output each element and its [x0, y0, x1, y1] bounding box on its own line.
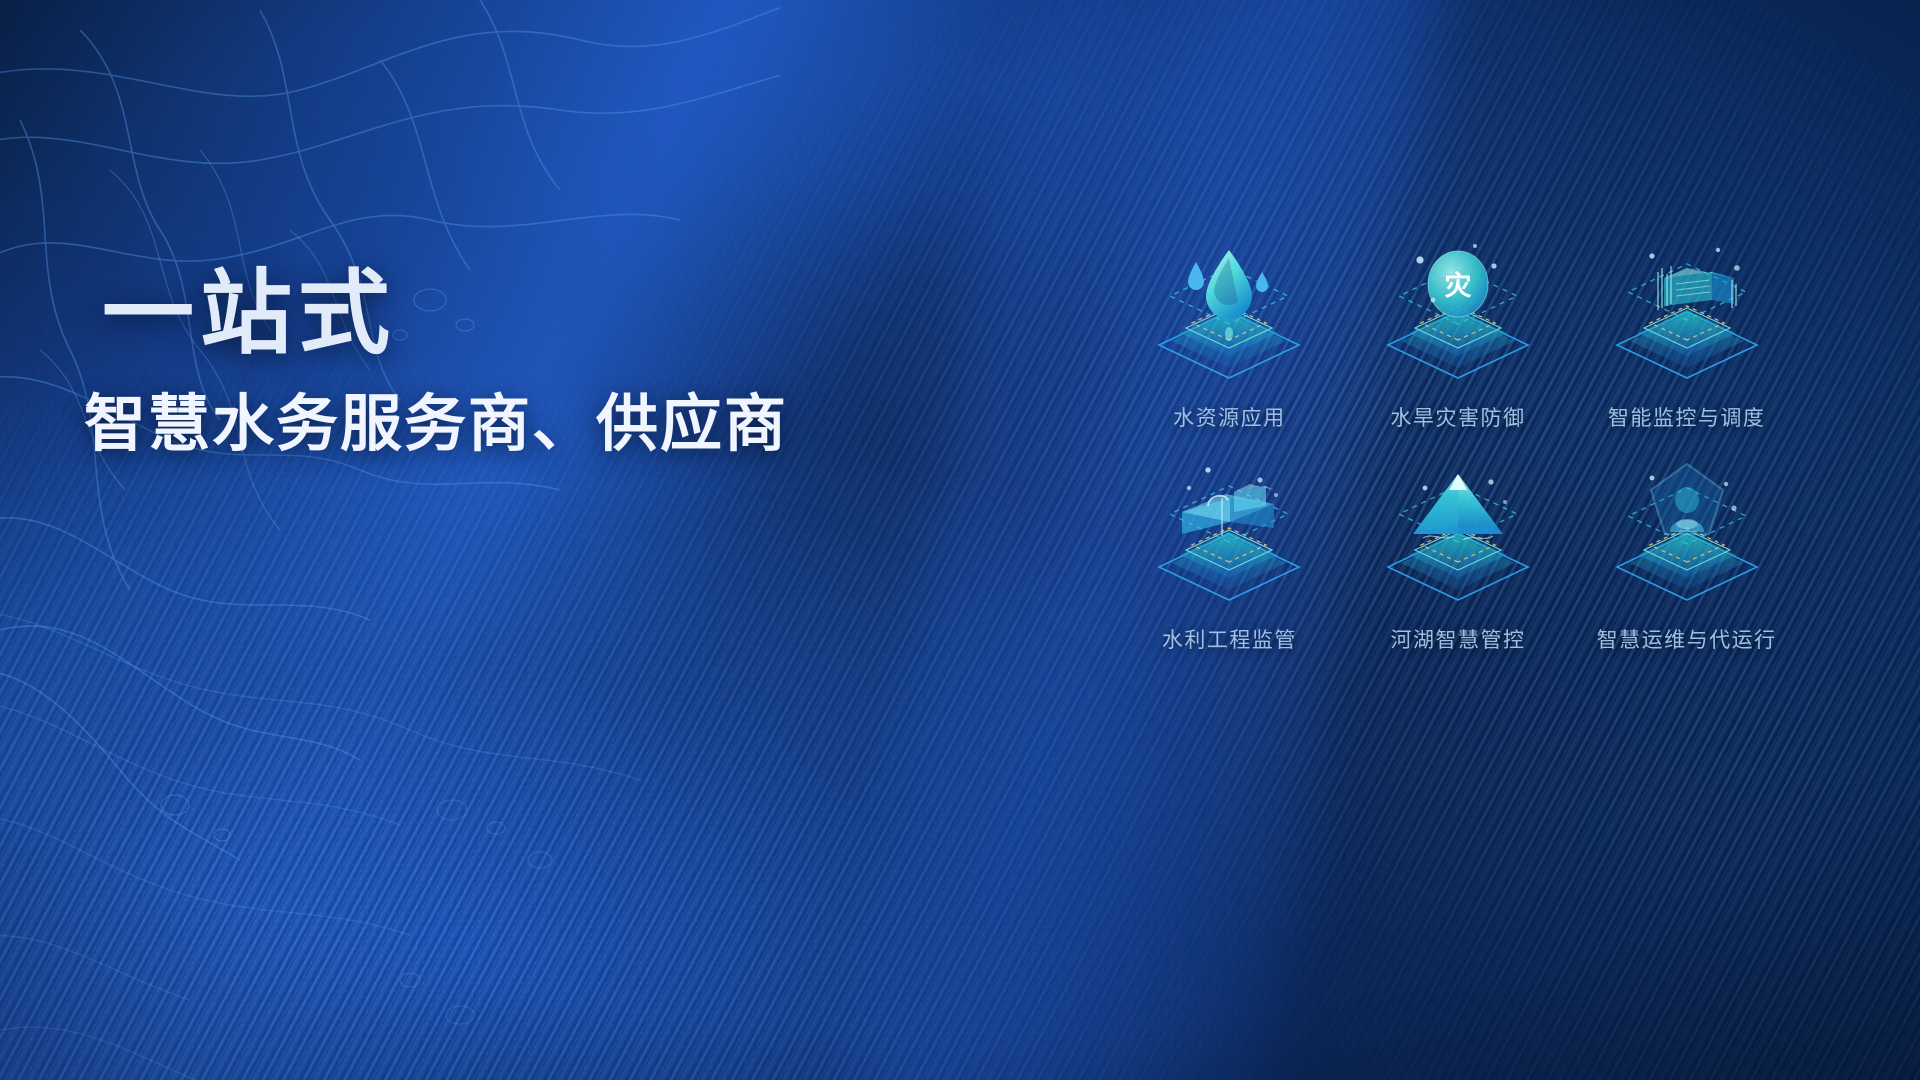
- page-subtitle: 智慧水务服务商、供应商: [84, 394, 788, 456]
- capability-label: 智能监控与调度: [1608, 402, 1766, 432]
- hero-copy: 一站式 智慧水务服务商、供应商: [102, 268, 788, 456]
- capability-item-water-resource[interactable]: 水资源应用: [1118, 228, 1341, 432]
- dam-monitor-icon: [1592, 228, 1782, 398]
- disaster-glyph: 灾: [1444, 270, 1471, 301]
- mountain-river-icon: [1363, 450, 1553, 620]
- capability-label: 水利工程监管: [1162, 624, 1297, 654]
- capability-item-smart-monitor[interactable]: 智能监控与调度: [1575, 228, 1798, 432]
- capability-grid: 水资源应用: [1118, 228, 1798, 654]
- capability-item-smart-ops[interactable]: 智慧运维与代运行: [1575, 450, 1798, 654]
- capability-item-project-supervision[interactable]: 水利工程监管: [1118, 450, 1341, 654]
- disaster-sphere-icon: 灾: [1363, 228, 1553, 398]
- shield-operator-icon: [1592, 450, 1782, 620]
- banner-stage: 一站式 智慧水务服务商、供应商: [0, 0, 1920, 1080]
- capability-item-flood-drought[interactable]: 灾 水旱灾害防御: [1347, 228, 1570, 432]
- capability-label: 水资源应用: [1173, 402, 1286, 432]
- hydro-structure-icon: [1134, 450, 1324, 620]
- capability-label: 智慧运维与代运行: [1597, 624, 1777, 654]
- capability-label: 河湖智慧管控: [1390, 624, 1525, 654]
- page-title: 一站式: [102, 268, 788, 360]
- capability-label: 水旱灾害防御: [1390, 402, 1525, 432]
- water-drop-icon: [1134, 228, 1324, 398]
- capability-item-river-lake[interactable]: 河湖智慧管控: [1347, 450, 1570, 654]
